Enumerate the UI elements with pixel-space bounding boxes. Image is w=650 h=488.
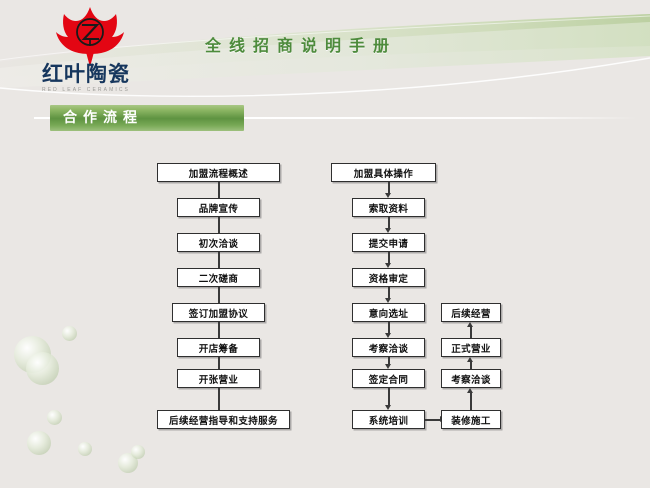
flow-connector [470,362,472,369]
flow-node-col2-step-2[interactable]: 资格审定 [352,268,425,287]
flow-connector [388,252,390,263]
flow-node-col3-step-2[interactable]: 考察洽谈 [441,369,501,388]
flow-node-col3-step-1[interactable]: 正式营业 [441,338,501,357]
flow-node-col2-step-5[interactable]: 签定合同 [352,369,425,388]
flow-node-col2-step-4[interactable]: 考察洽谈 [352,338,425,357]
flow-connector [470,327,472,338]
flow-node-col1-footer[interactable]: 后续经营指导和支持服务 [157,410,290,429]
flow-node-col3-step-0[interactable]: 后续经营 [441,303,501,322]
flow-connector [218,217,220,233]
flow-node-col3-step-3[interactable]: 装修施工 [441,410,501,429]
flow-node-col2-step-6[interactable]: 系统培训 [352,410,425,429]
flow-connector [388,287,390,298]
flow-node-col1-step-1[interactable]: 初次洽谈 [177,233,260,252]
flow-connector [218,322,220,338]
flow-connector-cross-link [425,419,440,421]
cooperation-flowchart: 加盟流程概述 品牌宣传 初次洽谈 二次磋商 签订加盟协议 开店筹备 开张营业 后… [0,0,650,488]
flow-node-col1-header[interactable]: 加盟流程概述 [157,163,280,182]
flow-connector [388,322,390,333]
flow-connector [218,287,220,303]
flow-node-col1-step-2[interactable]: 二次磋商 [177,268,260,287]
flow-node-col2-step-0[interactable]: 索取资料 [352,198,425,217]
flow-connector [470,393,472,410]
flow-connector [218,252,220,268]
flow-connector [218,388,220,410]
flow-connector [388,357,390,364]
flow-connector [388,217,390,228]
flow-node-col1-step-4[interactable]: 开店筹备 [177,338,260,357]
flow-node-col2-header[interactable]: 加盟具体操作 [331,163,436,182]
flow-node-col1-step-5[interactable]: 开张营业 [177,369,260,388]
slide-canvas: 红叶陶瓷 RED LEAF CERAMICS 全线招商说明手册 合作流程 加盟流… [0,0,650,488]
flow-node-col1-step-3[interactable]: 签订加盟协议 [172,303,265,322]
flow-node-col1-step-0[interactable]: 品牌宣传 [177,198,260,217]
flow-connector [388,182,390,193]
flow-node-col2-step-3[interactable]: 意向选址 [352,303,425,322]
flow-node-col2-step-1[interactable]: 提交申请 [352,233,425,252]
flow-connector [388,388,390,405]
flow-connector [218,182,220,198]
